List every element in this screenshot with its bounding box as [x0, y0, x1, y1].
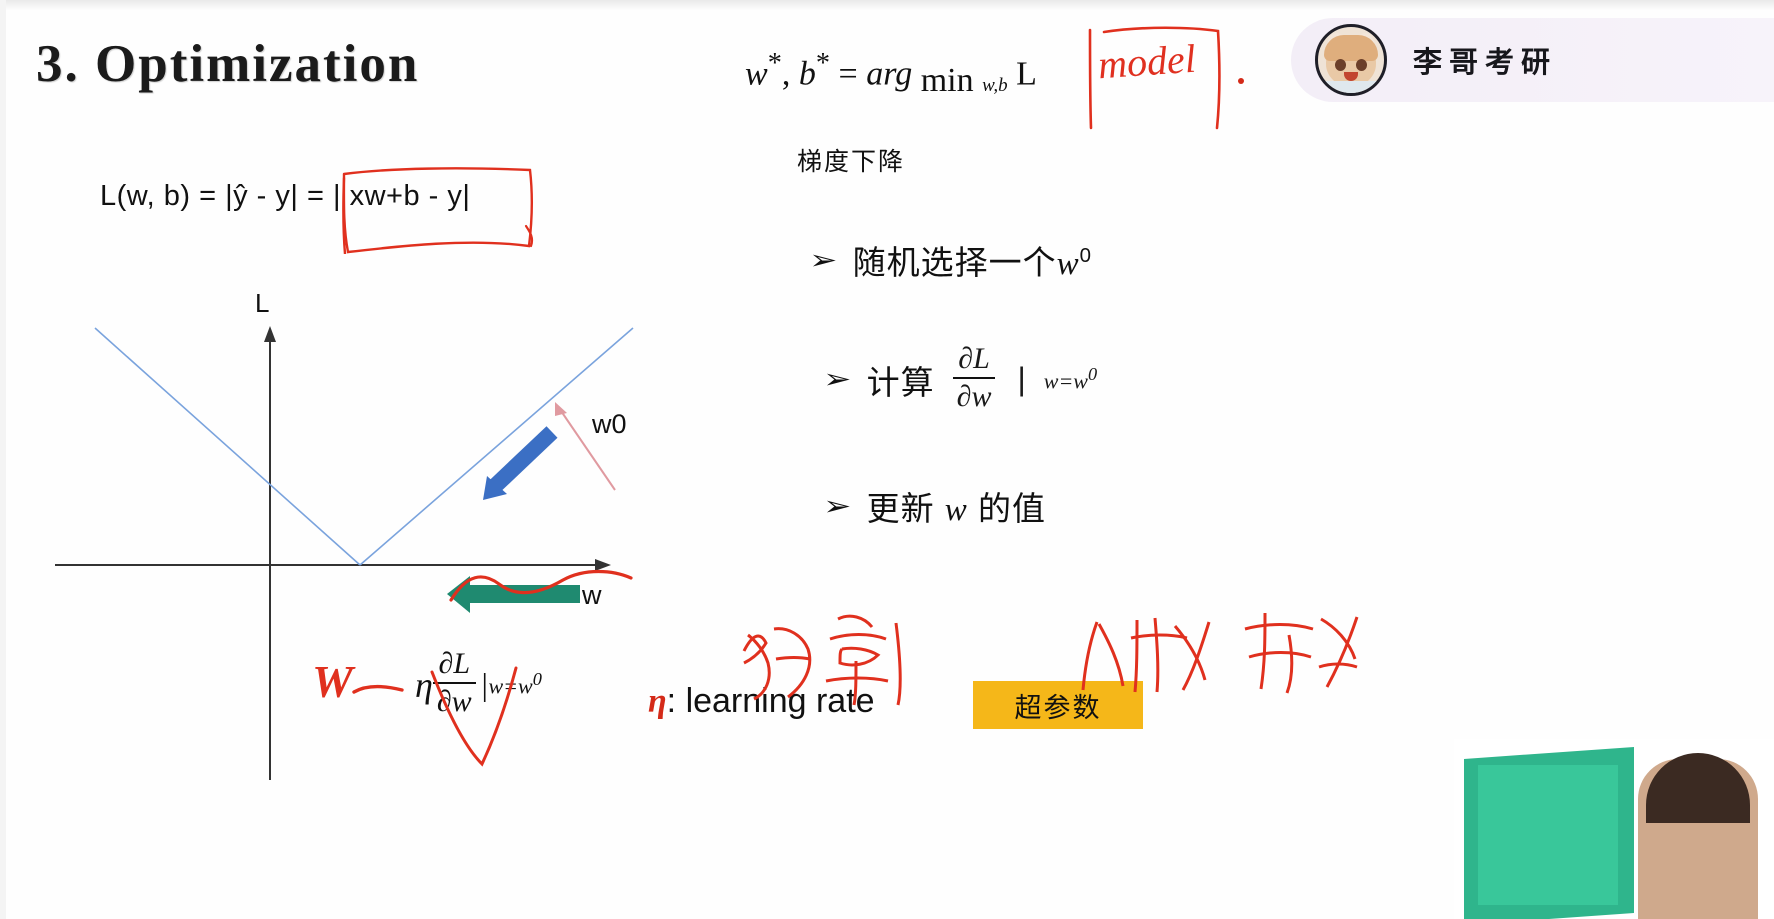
pip-green-inner [1478, 765, 1618, 905]
fraction-bar [953, 377, 996, 379]
objective-w: w [745, 55, 768, 92]
objective-equation: w*, b* = arg min w,b L [745, 48, 1037, 96]
bullet-1-math: w [1057, 246, 1080, 282]
learning-rate-label: η: learning rate [648, 682, 875, 721]
avatar-collar-icon [1322, 81, 1380, 93]
objective-arg: arg [866, 55, 912, 92]
objective-loss-L: L [1016, 55, 1037, 92]
update-rule-eta: η [415, 664, 433, 706]
avatar-eye-left-icon [1335, 59, 1346, 71]
left-edge-strip [0, 0, 6, 919]
objective-star-2: * [816, 48, 830, 79]
bullet-arrow-icon: ➢ [809, 247, 837, 274]
update-rule-eval-subscript: w=w0 [489, 669, 542, 699]
ink-dot-after-model [1238, 78, 1244, 84]
update-rule-equation: η ∂L ∂w | w=w0 [415, 650, 542, 719]
bullet-2-eval-subscript: w=w0 [1044, 364, 1097, 394]
loss-equation-lhs: L(w, b) = | [100, 180, 233, 212]
objective-b: b [799, 55, 816, 92]
bullet-3-text: 更新 w 的值 [867, 482, 1046, 530]
bullet-2-text: 计算 [867, 356, 935, 404]
plot-w0-label: w0 [592, 409, 627, 440]
fraction-bar [433, 682, 476, 684]
bullet-2-eval-superscript: 0 [1088, 364, 1097, 384]
bullet-2-numerator: ∂L [953, 343, 996, 375]
objective-min-block: min w,b [921, 62, 1008, 100]
loss-equation-mid: - y| = [248, 180, 333, 212]
bullet-1-superscript: 0 [1080, 244, 1092, 267]
green-step-arrow [447, 576, 580, 613]
bullet-arrow-icon: ➢ [823, 493, 851, 520]
learning-rate-text: : learning rate [667, 682, 875, 720]
top-fade-strip [0, 0, 1774, 10]
hyperparameter-highlight-box: 超参数 [973, 681, 1143, 729]
update-rule-eval-bar: | [476, 666, 489, 703]
objective-star-1: * [768, 48, 782, 79]
bullet-item-3: ➢ 更新 w 的值 [826, 482, 1046, 530]
avatar-hair-icon [1324, 35, 1378, 61]
bullet-1-text: 随机选择一个w0 [853, 236, 1092, 284]
objective-min: min [921, 62, 974, 99]
plot-x-axis-label: w [582, 580, 602, 611]
page-title: 3. Optimization [36, 34, 419, 94]
loss-equation-yhat: ŷ [233, 180, 248, 212]
update-rule-denominator: ∂w [433, 686, 476, 718]
bullet-item-1: ➢ 随机选择一个w0 [812, 236, 1092, 284]
lecture-slide: 3. Optimization L(w, b) = |ŷ - y| = | xw… [0, 0, 1774, 919]
avatar [1315, 24, 1387, 96]
update-rule-numerator: ∂L [433, 648, 476, 680]
channel-watermark: 李哥考研 [1291, 18, 1774, 102]
loss-curve-plot [55, 280, 675, 780]
bullet-2-fraction: ∂L ∂w [953, 343, 996, 412]
ink-text-w: W [312, 655, 353, 708]
plot-y-axis-label: L [255, 288, 269, 319]
bullet-2-eval-bar: | [1013, 361, 1025, 398]
avatar-eye-right-icon [1356, 59, 1367, 71]
bullet-3-math: w [945, 492, 968, 528]
ink-text-model: model [1096, 35, 1197, 89]
hyperparameter-text: 超参数 [1015, 686, 1102, 725]
objective-min-subscript: w,b [982, 75, 1008, 96]
channel-name: 李哥考研 [1413, 39, 1557, 81]
blue-descent-arrow [483, 432, 552, 500]
update-rule-eval-superscript: 0 [533, 669, 542, 689]
bullet-item-2: ➢ 计算 ∂L ∂w | w=w0 [826, 345, 1097, 414]
presenter-video-thumbnail[interactable] [1454, 739, 1774, 919]
bullet-arrow-icon: ➢ [823, 366, 851, 393]
bullet-2-denominator: ∂w [953, 381, 996, 413]
learning-rate-symbol: η [648, 683, 667, 720]
objective-equals: = [830, 55, 866, 92]
update-rule-fraction: ∂L ∂w [433, 648, 476, 717]
gradient-descent-label: 梯度下降 [797, 142, 905, 178]
objective-comma: , [782, 55, 799, 92]
ink-handwriting-cn-3 [1235, 605, 1365, 700]
ink-box-loss-annotation [340, 166, 536, 254]
